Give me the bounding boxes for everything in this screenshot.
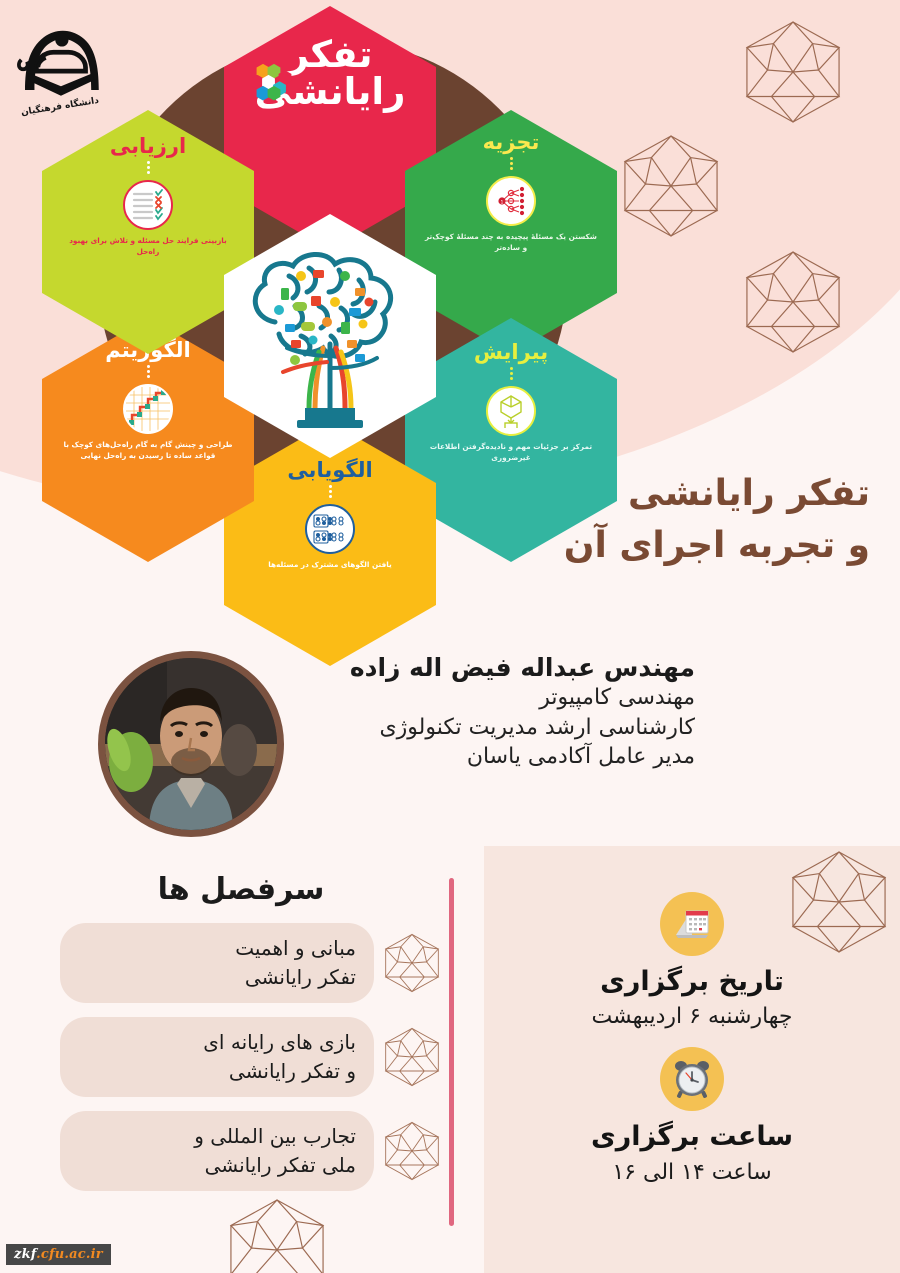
hex-cube-icon (384, 1026, 440, 1088)
syllabus-item: مبانی و اهمیت تفکر رایانشی (60, 923, 440, 1003)
hex-cube-icon (384, 1120, 440, 1182)
syllabus-heading: سرفصل ها (60, 872, 440, 907)
svg-text:1: 1 (501, 200, 504, 206)
cube-filter-icon (486, 386, 536, 436)
event-date-value: چهارشنبه ۶ اردیبهشت (484, 1004, 900, 1029)
checklist-icon (123, 180, 173, 230)
university-logo: دانشگاه فرهنگیان (8, 10, 112, 128)
tree-nodes-icon: 1 (486, 176, 536, 226)
event-time-value: ساعت ۱۴ الی ۱۶ (484, 1160, 900, 1185)
speaker-section: مهندس عبداله فیض اله زاده مهندسی کامپیوت… (0, 648, 900, 848)
speaker-credential-2: کارشناسی ارشد مدیریت تکنولوژی (225, 713, 695, 742)
poster-canvas: دانشگاه فرهنگیان تفکر رایانشی (0, 0, 900, 1273)
node-dots (510, 157, 513, 170)
syllabus-item-text: بازی های رایانه ای و تفکر رایانشی (60, 1017, 374, 1097)
section-divider (449, 878, 454, 1226)
main-title-line2: و تجربه اجرای آن (400, 520, 870, 572)
calendar-icon (660, 892, 724, 956)
decorative-hex-cube-icon (744, 20, 842, 124)
decorative-hex-cube-icon (744, 250, 842, 354)
syllabus-item-text: تجارب بین المللی و ملی تفکر رایانشی (60, 1111, 374, 1191)
event-time-title: ساعت برگزاری (484, 1121, 900, 1153)
brain-tree-illustration-icon (235, 236, 425, 436)
node-subtitle-algorithm: طراحی و چینش گام به گام راه‌حل‌های کوچک … (42, 439, 254, 462)
node-label-abstraction: پیرایش (474, 342, 548, 363)
event-date-title: تاریخ برگزاری (484, 966, 900, 998)
watermark-suffix: .cfu.ac.ir (36, 1247, 103, 1262)
node-dots (147, 365, 150, 378)
syllabus-item-line1: مبانی و اهمیت (78, 934, 356, 963)
event-time-block: ساعت برگزاری ساعت ۱۴ الی ۱۶ (484, 1047, 900, 1184)
syllabus-item: تجارب بین المللی و ملی تفکر رایانشی (60, 1111, 440, 1191)
node-label-decomposition: تجزیه (483, 132, 540, 153)
node-dots (147, 161, 150, 174)
syllabus-item-line2: ملی تفکر رایانشی (78, 1151, 356, 1180)
stairs-flowchart-icon (123, 384, 173, 434)
syllabus-item-line2: تفکر رایانشی (78, 963, 356, 992)
main-title-line1: تفکر رایانشی (400, 468, 870, 520)
speaker-credential-1: مهندسی کامپیوتر (225, 683, 695, 712)
speaker-details: مهندس عبداله فیض اله زاده مهندسی کامپیوت… (225, 652, 695, 771)
syllabus-section: سرفصل ها مبانی و اهمیت تفکر رایانشی (60, 872, 440, 1205)
pattern-grid-icon (305, 504, 355, 554)
syllabus-item-line1: بازی های رایانه ای (78, 1028, 356, 1057)
node-subtitle-decomposition: شکستن یک مسئلهٔ پیچیده به چند مسئلهٔ کوچ… (405, 231, 617, 254)
syllabus-item-line1: تجارب بین المللی و (78, 1122, 356, 1151)
speaker-credential-3: مدیر عامل آکادمی یاسان (225, 742, 695, 771)
node-label-evaluation: ارزیابی (110, 136, 186, 157)
poster-main-title: تفکر رایانشی و تجربه اجرای آن (400, 468, 870, 572)
node-subtitle-evaluation: بازبینی فرایند حل مسئله و تلاش برای بهبو… (42, 235, 254, 258)
node-dots (329, 485, 332, 498)
node-subtitle-abstraction: تمرکز بر جزئیات مهم و نادیده‌گرفتن اطلاع… (405, 441, 617, 464)
watermark-prefix: zkf (14, 1247, 36, 1262)
decorative-hex-cube-icon (228, 1198, 326, 1273)
hex-cube-icon (384, 932, 440, 994)
site-watermark: zkf.cfu.ac.ir (6, 1244, 111, 1265)
node-subtitle-pattern-recognition: یافتن الگوهای مشترک در مسئله‌ها (250, 559, 410, 570)
node-label-pattern-recognition: الگویابی (287, 460, 372, 481)
hexagon-cluster-logo-icon (252, 62, 296, 106)
node-dots (510, 367, 513, 380)
event-date-block: تاریخ برگزاری چهارشنبه ۶ اردیبهشت (484, 892, 900, 1029)
syllabus-item-line2: و تفکر رایانشی (78, 1057, 356, 1086)
alarm-clock-icon (660, 1047, 724, 1111)
speaker-name: مهندس عبداله فیض اله زاده (225, 652, 695, 683)
syllabus-item: بازی های رایانه ای و تفکر رایانشی (60, 1017, 440, 1097)
university-book-logo-icon (8, 10, 112, 102)
syllabus-item-text: مبانی و اهمیت تفکر رایانشی (60, 923, 374, 1003)
event-details-section: تاریخ برگزاری چهارشنبه ۶ اردیبهشت (484, 892, 900, 1203)
